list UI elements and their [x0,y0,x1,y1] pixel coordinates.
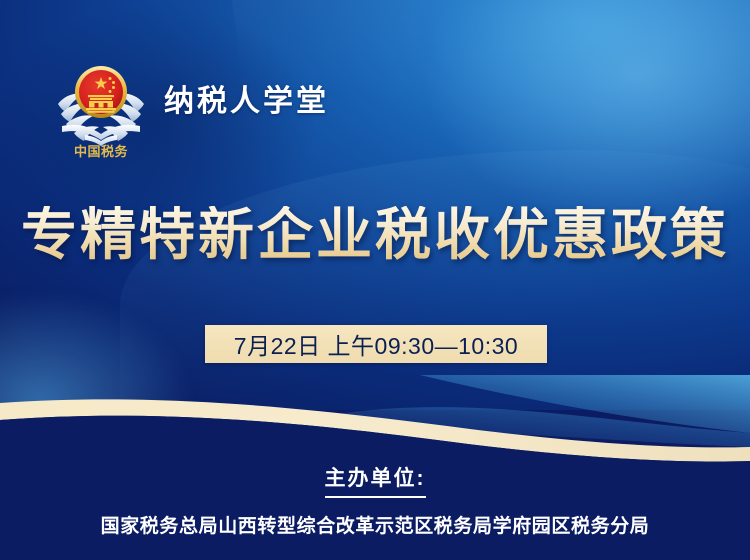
poster-canvas: 中国税务 纳税人学堂 专精特新企业税收优惠政策 7月22日 上午09:30—10… [0,0,750,560]
footer-block: 主办单位: 国家税务总局山西转型综合改革示范区税务局学府园区税务分局 [0,462,750,538]
china-tax-emblem-icon: 中国税务 [52,52,150,158]
page-title: 专精特新企业税收优惠政策 [0,206,750,265]
brand-title: 纳税人学堂 [164,87,329,117]
emblem-caption: 中国税务 [74,144,129,158]
organizer-label: 主办单位: [325,462,426,498]
schedule-banner: 7月22日 上午09:30—10:30 [205,325,547,363]
organizer-name: 国家税务总局山西转型综合改革示范区税务局学府园区税务分局 [0,511,750,538]
logo-block: 中国税务 纳税人学堂 [52,52,329,158]
